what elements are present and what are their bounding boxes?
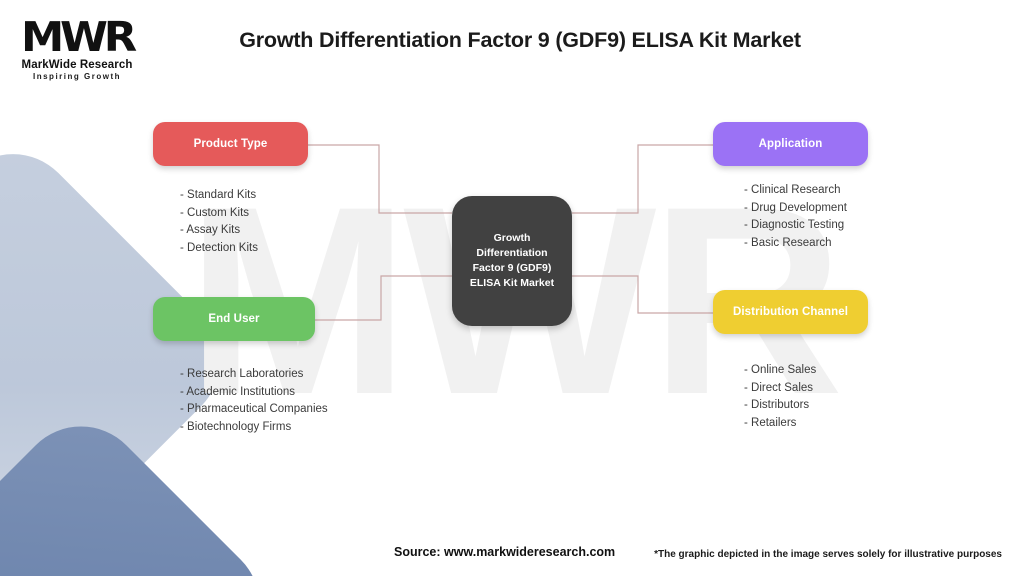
list-item: - Biotechnology Firms — [180, 419, 315, 437]
list-item: - Retailers — [744, 415, 868, 433]
branch-title-end-user: End User — [208, 313, 259, 325]
footer-source[interactable]: Source: www.markwideresearch.com — [394, 545, 615, 559]
connector-application — [572, 145, 713, 213]
branch-list-end-user: - Research Laboratories - Academic Insti… — [153, 366, 315, 436]
list-item: - Direct Sales — [744, 380, 868, 398]
branch-list-application: - Clinical Research - Drug Development -… — [713, 182, 868, 252]
connector-distribution-channel — [572, 276, 713, 313]
branch-list-distribution-channel: - Online Sales - Direct Sales - Distribu… — [713, 362, 868, 432]
brand-logo: MWR MarkWide Research Inspiring Growth — [14, 18, 140, 81]
connector-end-user — [315, 276, 452, 320]
footer-disclaimer: *The graphic depicted in the image serve… — [654, 549, 1002, 560]
branch-product-type: Product Type - Standard Kits - Custom Ki… — [153, 122, 308, 257]
list-item: - Custom Kits — [180, 205, 308, 223]
list-item: - Research Laboratories — [180, 366, 315, 384]
branch-end-user: End User - Research Laboratories - Acade… — [153, 297, 315, 436]
center-node-label: Growth Differentiation Factor 9 (GDF9) E… — [460, 231, 564, 291]
list-item: - Basic Research — [744, 235, 868, 253]
branch-header-distribution-channel[interactable]: Distribution Channel — [713, 290, 868, 334]
branch-header-application[interactable]: Application — [713, 122, 868, 166]
list-item: - Distributors — [744, 397, 868, 415]
branch-header-end-user[interactable]: End User — [153, 297, 315, 341]
list-item: - Pharmaceutical Companies — [180, 401, 315, 419]
branch-title-application: Application — [759, 138, 823, 150]
connector-product-type — [308, 145, 452, 213]
list-item: - Online Sales — [744, 362, 868, 380]
branch-title-distribution-channel: Distribution Channel — [733, 306, 848, 318]
center-node: Growth Differentiation Factor 9 (GDF9) E… — [452, 196, 572, 326]
list-item: - Clinical Research — [744, 182, 868, 200]
list-item: - Assay Kits — [180, 222, 308, 240]
list-item: - Diagnostic Testing — [744, 217, 868, 235]
branch-list-product-type: - Standard Kits - Custom Kits - Assay Ki… — [153, 187, 308, 257]
branch-application: Application - Clinical Research - Drug D… — [713, 122, 868, 252]
logo-tagline: Inspiring Growth — [14, 72, 140, 81]
branch-distribution-channel: Distribution Channel - Online Sales - Di… — [713, 290, 868, 432]
infographic-canvas: MWR MWR MarkWide Research Inspiring Grow… — [0, 0, 1024, 576]
list-item: - Academic Institutions — [180, 384, 315, 402]
list-item: - Drug Development — [744, 200, 868, 218]
branch-title-product-type: Product Type — [194, 138, 268, 150]
branch-header-product-type[interactable]: Product Type — [153, 122, 308, 166]
list-item: - Detection Kits — [180, 240, 308, 258]
logo-mark-icon: MWR — [10, 18, 144, 57]
page-title: Growth Differentiation Factor 9 (GDF9) E… — [160, 28, 880, 53]
list-item: - Standard Kits — [180, 187, 308, 205]
